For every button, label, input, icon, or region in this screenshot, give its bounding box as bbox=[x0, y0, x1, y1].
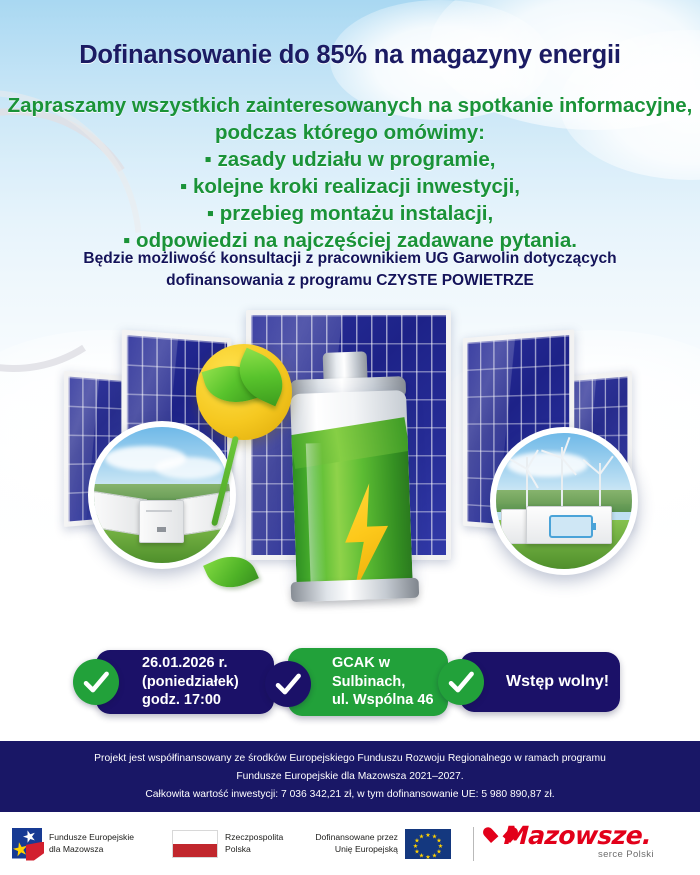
logo-unia-europejska: Dofinansowane przez Unię Europejską bbox=[315, 829, 451, 859]
logo-mazowsze: Mazowsze. serce Polski bbox=[488, 822, 656, 866]
pill-date-time-label: 26.01.2026 r. (poniedziałek) godz. 17:00 bbox=[142, 654, 239, 710]
page-title: Dofinansowanie do 85% na magazyny energi… bbox=[0, 41, 700, 70]
consultation-note: Będzie możliwość konsultacji z pracownik… bbox=[0, 248, 700, 292]
eu-line-2: Unię Europejską bbox=[315, 844, 398, 856]
check-icon bbox=[265, 661, 311, 707]
poster-root: Dofinansowanie do 85% na magazyny energi… bbox=[0, 0, 700, 875]
poland-flag-icon bbox=[172, 830, 218, 858]
pill-free-entry-label: Wstęp wolny! bbox=[506, 673, 609, 692]
pill-free-entry[interactable]: Wstęp wolny! bbox=[460, 652, 620, 712]
battery-illustration bbox=[277, 350, 426, 607]
consultation-line-2: dofinansowania z programu CZYSTE POWIETR… bbox=[166, 272, 534, 289]
lead-paragraph: Zapraszamy wszystkich zainteresowanych n… bbox=[0, 92, 700, 254]
photo-battery-storage-farm bbox=[88, 421, 236, 569]
funding-line-2: Fundusze Europejskie dla Mazowsza 2021–2… bbox=[0, 768, 700, 786]
rzeczpospolita-label: Rzeczpospolita Polska bbox=[225, 832, 283, 855]
eu-line-1: Dofinansowane przez bbox=[315, 832, 398, 844]
agenda-item: ▪ kolejne kroki realizacji inwestycji, bbox=[0, 173, 700, 200]
funding-line-1: Projekt jest współfinansowany ze środków… bbox=[0, 750, 700, 768]
eco-leaf-badge-icon bbox=[196, 344, 292, 440]
agenda-item: ▪ zasady udziału w programie, bbox=[0, 146, 700, 173]
pill-location[interactable]: GCAK w Sulbinach, ul. Wspólna 46 bbox=[288, 648, 448, 716]
check-icon bbox=[438, 659, 484, 705]
rp-line-2: Polska bbox=[225, 844, 283, 856]
rp-line-1: Rzeczpospolita bbox=[225, 832, 283, 844]
lead-line-1: Zapraszamy wszystkich zainteresowanych n… bbox=[8, 94, 554, 117]
fundusze-europejskie-icon bbox=[12, 825, 42, 863]
eu-flag-icon bbox=[405, 829, 451, 859]
fundusze-europejskie-label: Fundusze Europejskie dla Mazowsza bbox=[49, 832, 134, 855]
fe-line-1: Fundusze Europejskie bbox=[49, 832, 134, 844]
photo-wind-farm-storage bbox=[490, 427, 638, 575]
agenda-item: ▪ przebieg montażu instalacji, bbox=[0, 200, 700, 227]
logo-rzeczpospolita-polska: Rzeczpospolita Polska bbox=[172, 830, 283, 858]
agenda-list: ▪ zasady udziału w programie, ▪ kolejne … bbox=[0, 146, 700, 254]
info-pills: 26.01.2026 r. (poniedziałek) godz. 17:00… bbox=[0, 648, 700, 730]
check-icon bbox=[73, 659, 119, 705]
logo-fundusze-europejskie: Fundusze Europejskie dla Mazowsza bbox=[2, 825, 134, 863]
consultation-line-1: Będzie możliwość konsultacji z pracownik… bbox=[83, 250, 616, 267]
unia-europejska-label: Dofinansowane przez Unię Europejską bbox=[315, 832, 398, 855]
battery-icon bbox=[549, 515, 593, 538]
logo-divider bbox=[473, 827, 474, 861]
pill-location-label: GCAK w Sulbinach, ul. Wspólna 46 bbox=[332, 654, 434, 710]
fe-line-2: dla Mazowsza bbox=[49, 844, 134, 856]
funding-line-3: Całkowita wartość inwestycji: 7 036 342,… bbox=[0, 786, 700, 804]
logo-bar: Fundusze Europejskie dla Mazowsza Rzeczp… bbox=[0, 812, 700, 875]
mazowsze-tagline: serce Polski bbox=[598, 849, 654, 860]
pill-date-time[interactable]: 26.01.2026 r. (poniedziałek) godz. 17:00 bbox=[96, 650, 274, 714]
hero-illustration bbox=[0, 300, 700, 650]
funding-disclaimer: Projekt jest współfinansowany ze środków… bbox=[0, 741, 700, 812]
mazowsze-wordmark: Mazowsze. bbox=[503, 821, 652, 850]
